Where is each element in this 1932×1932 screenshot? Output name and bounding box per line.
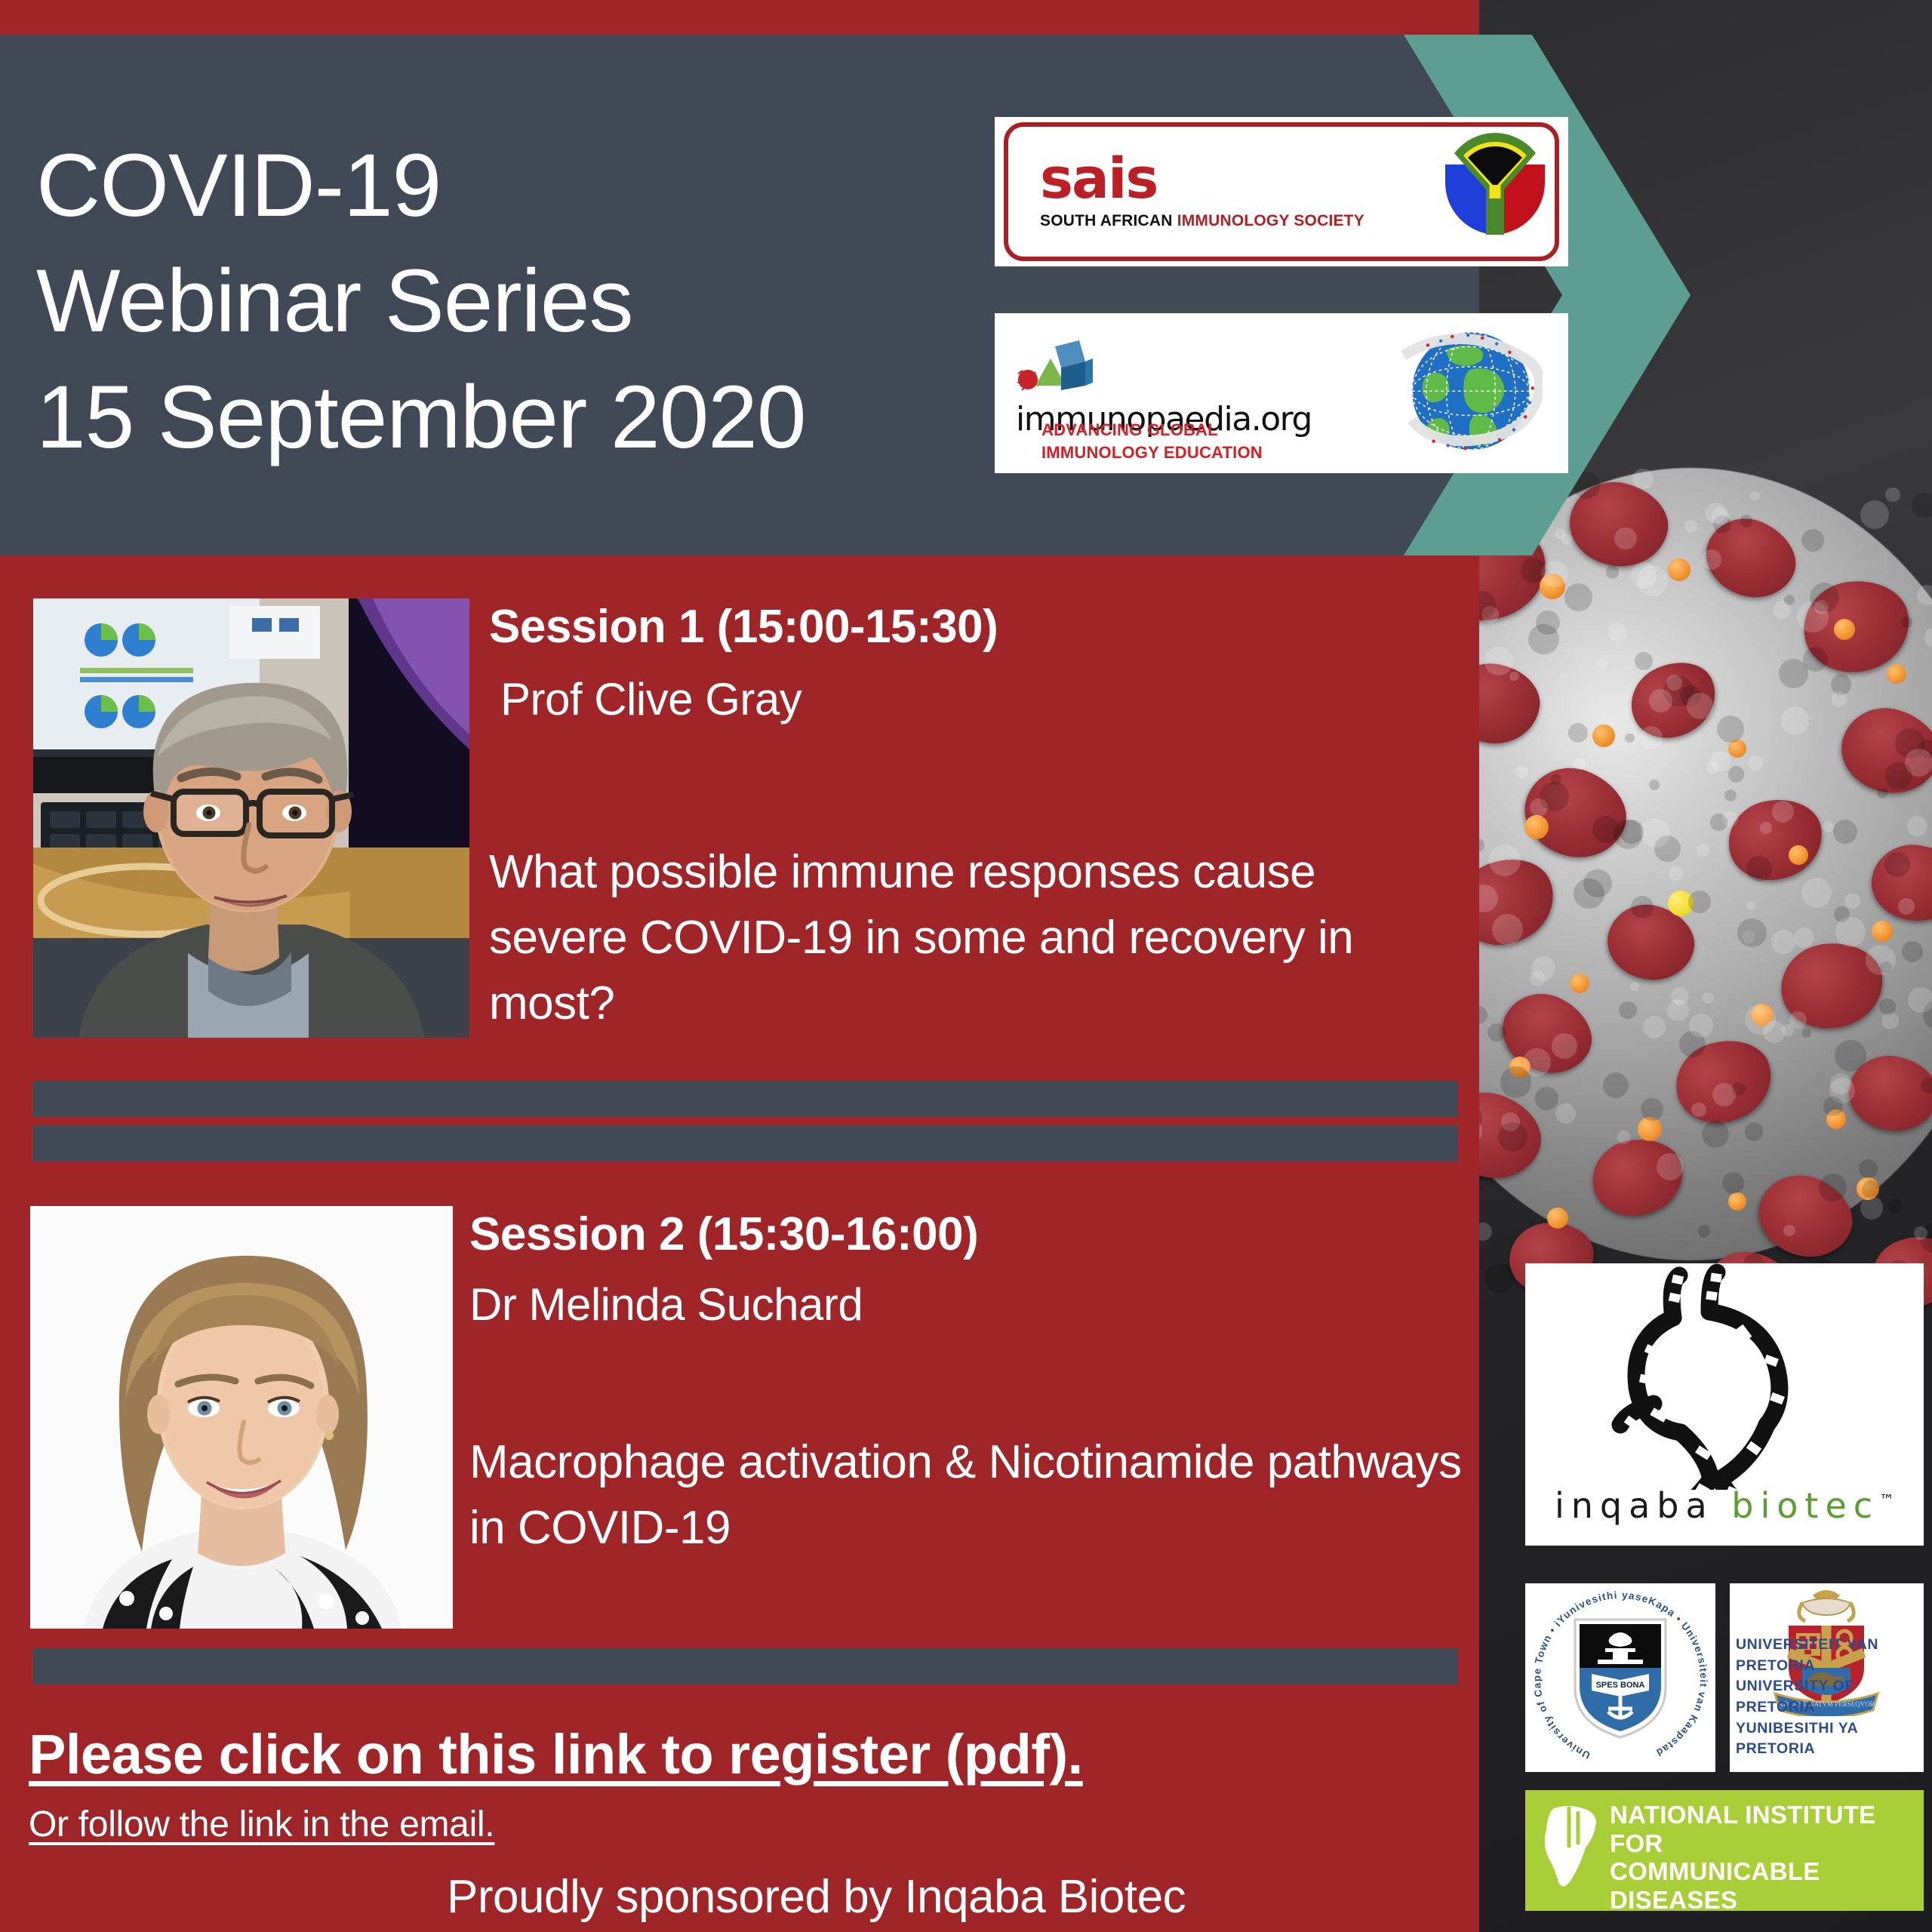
virus-texture-speck: [1724, 789, 1737, 801]
virus-surface-dot: [1728, 1192, 1746, 1211]
virus-surface-dot: [1547, 1207, 1568, 1229]
uct-logo: University of Cape Town • iYunivesithi y…: [1525, 1583, 1715, 1772]
virus-texture-speck: [1781, 706, 1809, 734]
inqaba-name-green: biotec: [1731, 1485, 1879, 1526]
virus-texture-speck: [1688, 891, 1711, 913]
portrait-graphic-1: [33, 598, 469, 1038]
virus-texture-speck: [1555, 1103, 1576, 1124]
virus-texture-speck: [1844, 894, 1860, 909]
sais-wordmark: sais: [1040, 153, 1364, 205]
virus-texture-speck: [1801, 1029, 1811, 1038]
south-african-flag-hands-icon: [1438, 126, 1552, 239]
virus-texture-speck: [1489, 844, 1520, 875]
virus-texture-speck: [1702, 1121, 1729, 1148]
virus-texture-speck: [1860, 500, 1889, 529]
up-logo: AD DESTINATVM PERSEQVOR UNIVERSITEIT VAN…: [1730, 1583, 1924, 1772]
virus-texture-speck: [1771, 930, 1795, 954]
virus-surface-dot: [1872, 921, 1893, 942]
virus-texture-speck: [1606, 565, 1620, 579]
virus-texture-speck: [1509, 672, 1518, 681]
virus-texture-speck: [1630, 982, 1639, 991]
section-divider-2: [33, 1125, 1458, 1161]
virus-texture-speck: [1917, 585, 1932, 605]
section-divider-1: [33, 1081, 1458, 1117]
virus-surface-dot: [1570, 974, 1589, 993]
virus-texture-speck: [1603, 1072, 1629, 1098]
virus-texture-speck: [1540, 782, 1569, 811]
sais-logo: sais SOUTH AFRICAN IMMUNOLOGY SOCIETY: [995, 117, 1568, 266]
virus-texture-speck: [1859, 1159, 1878, 1178]
virus-texture-speck: [1885, 762, 1912, 789]
virus-surface-dot: [1592, 724, 1615, 747]
virus-texture-speck: [1835, 1040, 1866, 1072]
virus-texture-speck: [1784, 595, 1795, 605]
virus-texture-speck: [1608, 623, 1627, 641]
virus-texture-speck: [1479, 1223, 1492, 1241]
virus-texture-speck: [1740, 515, 1752, 527]
virus-texture-speck: [1697, 844, 1709, 857]
virus-surface-dot: [1834, 619, 1855, 640]
session-1-heading: Session 1 (15:00-15:30): [489, 600, 998, 654]
virus-texture-speck: [1887, 1198, 1903, 1214]
virus-texture-speck: [1835, 917, 1866, 947]
session-2-topic: Macrophage activation & Nicotinamide pat…: [469, 1430, 1473, 1561]
virus-texture-speck: [1657, 1153, 1684, 1180]
title-line-2: Webinar Series: [36, 244, 806, 359]
virus-texture-speck: [1541, 561, 1568, 588]
immunopaedia-tagline-2: IMMUNOLOGY EDUCATION: [1041, 441, 1263, 464]
session-2-heading: Session 2 (15:30-16:00): [469, 1207, 978, 1261]
title-line-3: 15 September 2020: [36, 360, 806, 475]
session-1-speaker: Prof Clive Gray: [500, 673, 801, 725]
virus-texture-speck: [1620, 820, 1644, 844]
virus-texture-speck: [1531, 956, 1555, 980]
immunopaedia-tagline: ADVANCING GLOBAL IMMUNOLOGY EDUCATION: [1041, 419, 1263, 463]
virus-texture-speck: [1860, 1196, 1883, 1219]
up-name-en: UNIVERSITY OF PRETORIA: [1736, 1676, 1921, 1718]
virus-texture-speck: [1687, 693, 1712, 718]
page-title: COVID-19 Webinar Series 15 September 202…: [36, 128, 806, 475]
title-line-1: COVID-19: [36, 128, 806, 244]
trademark-symbol: ™: [1879, 1491, 1894, 1509]
virus-texture-speck: [1722, 811, 1738, 827]
up-name-af: UNIVERSITEIT VAN PRETORIA: [1736, 1635, 1921, 1676]
virus-texture-speck: [1866, 945, 1895, 974]
register-link[interactable]: Please click on this link to register (p…: [29, 1722, 1083, 1786]
globe-icon: [1399, 322, 1543, 466]
africa-chromosome-icon: [1525, 1263, 1924, 1490]
virus-surface-dot: [1668, 558, 1690, 581]
virus-texture-speck: [1908, 987, 1932, 1013]
virus-texture-speck: [1702, 549, 1722, 570]
inqaba-biotec-logo: inqaba biotec™: [1525, 1263, 1924, 1546]
virus-texture-speck: [1885, 488, 1900, 502]
dr-melinda-suchard-photo: [30, 1206, 453, 1629]
virus-texture-speck: [1689, 1014, 1713, 1038]
virus-texture-speck: [1625, 734, 1635, 743]
virus-texture-speck: [1832, 691, 1847, 707]
virus-texture-speck: [1902, 941, 1923, 962]
sponsor-line: Proudly sponsored by Inqaba Biotec: [447, 1870, 1186, 1924]
virus-texture-speck: [1631, 896, 1654, 918]
virus-texture-speck: [1823, 1097, 1843, 1116]
up-name-block: UNIVERSITEIT VAN PRETORIA UNIVERSITY OF …: [1736, 1635, 1921, 1760]
nicd-logo: NATIONAL INSTITUTE FOR COMMUNICABLE DISE…: [1525, 1790, 1924, 1911]
virus-texture-speck: [1640, 726, 1663, 749]
session-1-topic: What possible immune responses cause sev…: [489, 840, 1447, 1036]
section-divider-3: [33, 1648, 1458, 1684]
virus-texture-speck: [1498, 1122, 1527, 1152]
virus-texture-speck: [1492, 914, 1523, 945]
sais-subtitle-red: IMMUNOLOGY SOCIETY: [1177, 212, 1364, 229]
virus-texture-speck: [1745, 1122, 1763, 1140]
virus-surface-dot: [1789, 845, 1808, 865]
nicd-name-block: NATIONAL INSTITUTE FOR COMMUNICABLE DISE…: [1610, 1801, 1924, 1911]
immunopaedia-tagline-1: ADVANCING GLOBAL: [1041, 419, 1263, 441]
virus-texture-speck: [1803, 647, 1828, 672]
immunopaedia-shapes-icon: [1016, 339, 1106, 393]
virus-surface-dot: [1524, 815, 1549, 839]
virus-texture-speck: [1722, 1172, 1744, 1194]
virus-texture-speck: [1833, 820, 1857, 844]
virus-surface-dot: [1887, 664, 1906, 684]
up-name-zu: YUNIBESITHI YA PRETORIA: [1736, 1718, 1921, 1760]
virus-texture-speck: [1830, 1073, 1851, 1094]
virus-texture-speck: [1732, 1082, 1746, 1096]
sais-subtitle: SOUTH AFRICAN IMMUNOLOGY SOCIETY: [1040, 212, 1364, 230]
virus-texture-speck: [1535, 1087, 1558, 1109]
inqaba-name-black: inqaba: [1555, 1485, 1714, 1526]
chevron-arrow-icon: [1404, 35, 1690, 555]
virus-texture-speck: [1669, 866, 1684, 881]
virus-texture-speck: [1810, 583, 1839, 612]
virus-texture-speck: [1649, 689, 1672, 712]
prof-clive-gray-photo: [33, 598, 469, 1038]
poster-canvas: COVID-19 Webinar Series 15 September 202…: [0, 0, 1932, 1932]
virus-texture-speck: [1760, 822, 1772, 834]
virus-texture-speck: [1823, 821, 1834, 832]
virus-texture-speck: [1728, 766, 1744, 782]
inqaba-wordmark: inqaba biotec™: [1525, 1485, 1924, 1526]
virus-texture-speck: [1783, 1225, 1795, 1236]
uct-crest-icon: University of Cape Town • iYunivesithi y…: [1525, 1583, 1715, 1772]
virus-texture-speck: [1772, 801, 1794, 823]
virus-texture-speck: [1782, 1024, 1794, 1036]
virus-texture-speck: [1583, 869, 1612, 898]
virus-texture-speck: [1706, 761, 1718, 774]
virus-texture-speck: [1737, 918, 1766, 947]
virus-texture-speck: [1649, 780, 1660, 790]
immunopaedia-logo: immunopaedia.org ADVANCING GLOBAL IMMUNO…: [995, 313, 1568, 473]
nicd-line-2: COMMUNICABLE DISEASES: [1610, 1857, 1924, 1911]
virus-texture-speck: [1484, 647, 1513, 675]
virus-texture-speck: [1617, 1131, 1630, 1143]
email-link[interactable]: Or follow the link in the email.: [29, 1804, 494, 1845]
virus-texture-speck: [1631, 562, 1657, 589]
virus-texture-speck: [1702, 992, 1713, 1004]
virus-texture-speck: [1884, 852, 1910, 878]
virus-texture-speck: [1619, 1001, 1637, 1020]
sais-subtitle-black: SOUTH AFRICAN: [1040, 212, 1177, 229]
portrait-graphic-2: [30, 1206, 453, 1629]
virus-texture-speck: [1862, 1180, 1881, 1199]
virus-texture-speck: [1515, 765, 1528, 778]
africa-outline-icon: [1543, 1801, 1604, 1891]
virus-texture-speck: [1698, 1225, 1711, 1238]
virus-texture-speck: [1914, 1226, 1927, 1240]
virus-texture-speck: [1484, 1263, 1514, 1293]
virus-texture-speck: [1671, 987, 1689, 1005]
virus-texture-speck: [1912, 493, 1932, 518]
nicd-line-1: NATIONAL INSTITUTE FOR: [1610, 1801, 1924, 1857]
session-2-speaker: Dr Melinda Suchard: [469, 1278, 863, 1331]
virus-texture-speck: [1877, 788, 1887, 798]
virus-texture-speck: [1921, 1078, 1932, 1094]
virus-texture-speck: [1901, 617, 1912, 628]
virus-texture-speck: [1500, 1066, 1531, 1097]
virus-texture-speck: [1748, 755, 1763, 771]
virus-texture-speck: [1712, 508, 1729, 525]
virus-texture-speck: [1801, 878, 1832, 908]
sais-text-block: sais SOUTH AFRICAN IMMUNOLOGY SOCIETY: [1040, 153, 1364, 230]
virus-texture-speck: [1907, 816, 1927, 836]
uct-motto: SPES BONA: [1596, 1681, 1645, 1690]
